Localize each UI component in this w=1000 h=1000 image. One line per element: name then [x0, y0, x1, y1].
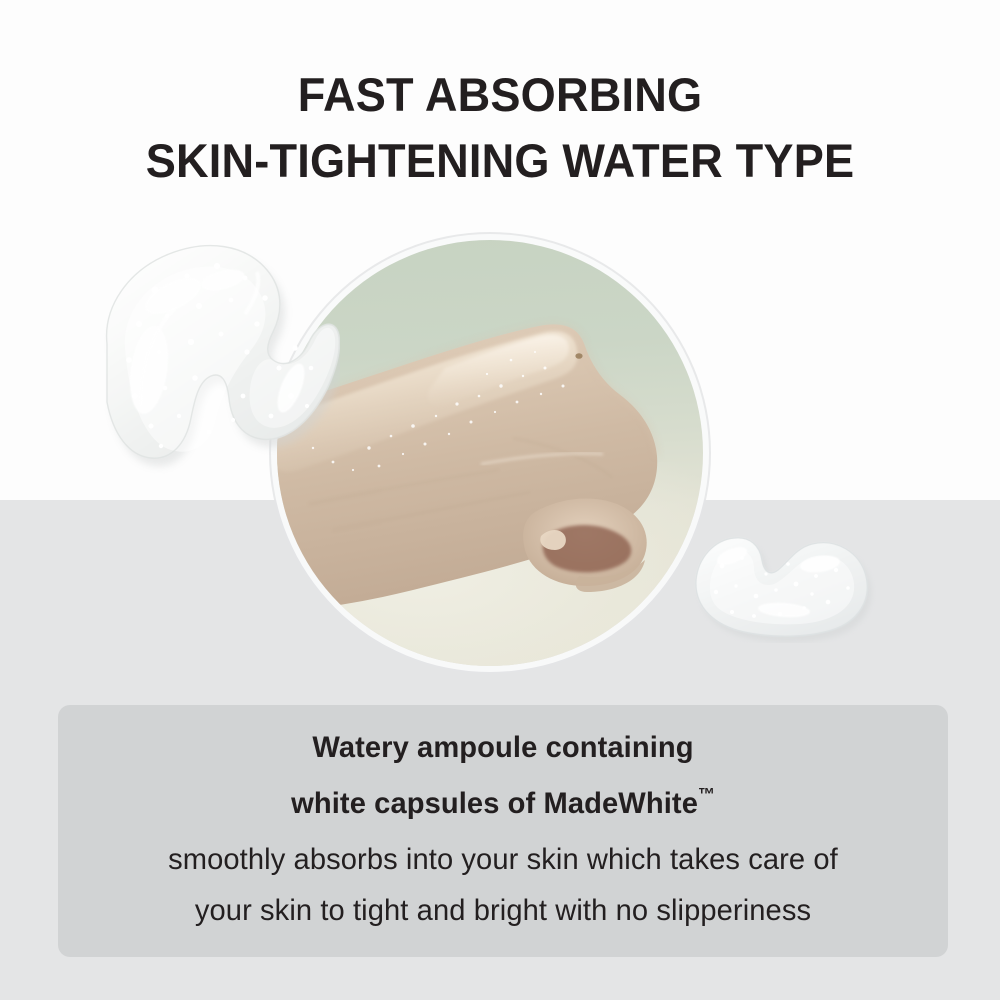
- caption-body-line-1: smoothly absorbs into your skin which ta…: [99, 834, 908, 885]
- product-photo-circle: [277, 240, 703, 666]
- page-title: FAST ABSORBING SKIN-TIGHTENING WATER TYP…: [20, 62, 980, 194]
- caption-bold-line-2: white capsules of MadeWhite™: [99, 771, 908, 827]
- headline-line-2: SKIN-TIGHTENING WATER TYPE: [20, 128, 980, 194]
- caption-card: Watery ampoule containing white capsules…: [58, 705, 948, 957]
- gel-swatch-right: [688, 518, 876, 643]
- headline-line-1: FAST ABSORBING: [20, 62, 980, 128]
- product-detail-page: FAST ABSORBING SKIN-TIGHTENING WATER TYP…: [0, 0, 1000, 1000]
- gel-swatch-left: [95, 220, 340, 485]
- trademark-symbol: ™: [698, 784, 715, 804]
- caption-body-line-2: your skin to tight and bright with no sl…: [99, 885, 908, 936]
- caption-bold-line-1: Watery ampoule containing: [99, 724, 908, 771]
- caption-bold-line-2-text: white capsules of MadeWhite: [291, 788, 698, 821]
- hero-visual: [0, 200, 1000, 700]
